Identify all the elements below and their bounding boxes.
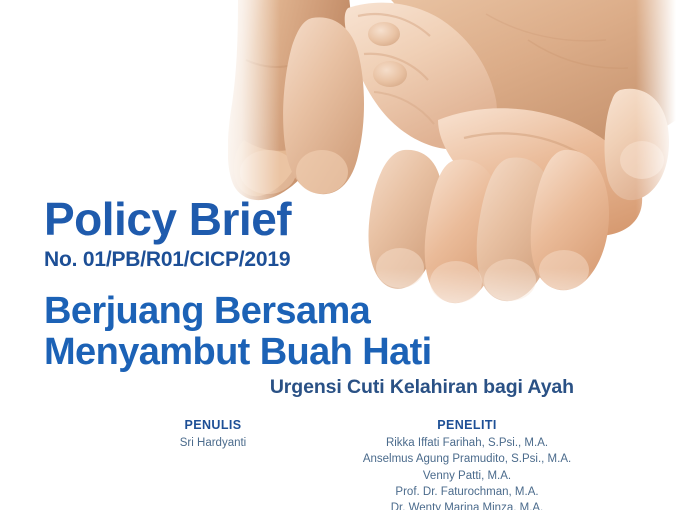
title-block: Policy Brief No. 01/PB/R01/CICP/2019 Ber… — [44, 196, 644, 399]
researcher-name: Prof. Dr. Faturochman, M.A. — [322, 484, 612, 500]
policy-brief-label: Policy Brief — [44, 196, 644, 242]
researchers-heading: PENELITI — [322, 418, 612, 432]
credits-block: PENULIS Sri Hardyanti PENELITI Rikka Iff… — [0, 418, 676, 510]
researchers-column: PENELITI Rikka Iffati Farihah, S.Psi., M… — [322, 418, 612, 510]
page-title: Berjuang Bersama Menyambut Buah Hati — [44, 291, 644, 373]
researcher-name: Venny Patti, M.A. — [322, 468, 612, 484]
researcher-name: Rikka Iffati Farihah, S.Psi., M.A. — [322, 435, 612, 451]
author-column: PENULIS Sri Hardyanti — [115, 418, 311, 451]
author-heading: PENULIS — [115, 418, 311, 432]
page-title-line-2: Menyambut Buah Hati — [44, 332, 644, 373]
researcher-name: Dr. Wenty Marina Minza, M.A. — [322, 500, 612, 510]
brief-number: No. 01/PB/R01/CICP/2019 — [44, 248, 644, 271]
author-name: Sri Hardyanti — [115, 435, 311, 451]
page-subtitle: Urgensi Cuti Kelahiran bagi Ayah — [44, 377, 574, 398]
policy-brief-cover: Policy Brief No. 01/PB/R01/CICP/2019 Ber… — [0, 0, 676, 510]
page-title-line-1: Berjuang Bersama — [44, 291, 644, 332]
researcher-name: Anselmus Agung Pramudito, S.Psi., M.A. — [322, 451, 612, 467]
